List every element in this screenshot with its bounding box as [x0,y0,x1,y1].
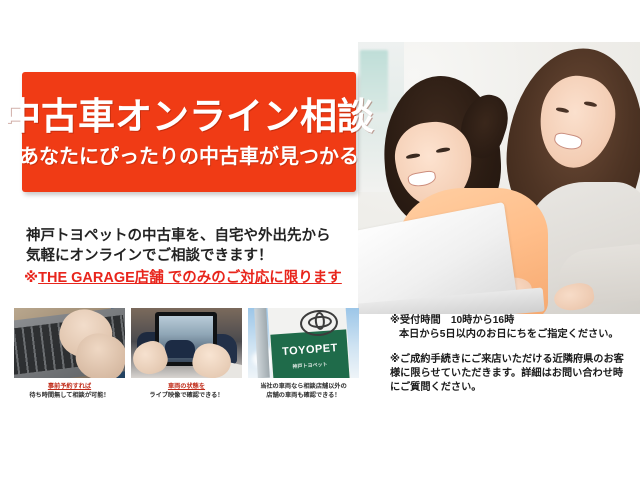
note-eligibility-line-2: 様に限らせていただきます。詳細はお問い合わせ時 [390,367,630,381]
terms-notes: ※受付時間 10時から16時 本日から5日以内のお日にちをご指定ください。 ※ご… [390,314,630,406]
tablet-showing-cars-photo [131,308,242,378]
advertisement-banner: 中古車オンライン相談 あなたにぴったりの中古車が見つかる 神戸トヨペットの中古車… [0,0,640,480]
feature-caption-line2: 待ち時間無して相談が可能！ [29,392,109,399]
feature-thumbnail-row: 事前予約すれば 待ち時間無して相談が可能！ 車両の状態を ライブ映像で確認できる… [14,308,359,400]
banner-title: 中古車オンライン相談 [4,98,374,135]
lead-line-2: 気軽にオンラインでご相談できます！ [26,246,356,266]
feature-caption-line2: 店舗の車両も確認できる！ [266,392,340,399]
note-hours-line-1: ※受付時間 10時から16時 [390,314,630,328]
feature-item: 車両の状態を ライブ映像で確認できる！ [131,308,242,400]
feature-item: TOYOPET 神戸トヨペット 当社の車両なら相談店舗以外の 店舗の車両も確認で… [248,308,359,400]
note-eligibility-line-3: にご質問ください。 [390,381,630,395]
note-block-hours: ※受付時間 10時から16時 本日から5日以内のお日にちをご指定ください。 [390,314,630,342]
feature-caption-line2: ライブ映像で確認できる！ [149,392,223,399]
garage-restriction-note: ※THE GARAGE店舗 でのみのご対応に限ります [24,268,342,288]
banner-subtitle: あなたにぴったりの中古車が見つかる [19,147,359,167]
feature-item: 事前予約すれば 待ち時間無して相談が可能！ [14,308,125,400]
note-underlined-text: THE GARAGE店舗 でのみのご対応に限ります [38,270,342,286]
mother-and-daughter-at-laptop-photo [358,42,640,314]
feature-caption: 車両の状態を ライブ映像で確認できる！ [131,383,242,400]
lead-paragraph: 神戸トヨペットの中古車を、自宅や外出先から 気軽にオンラインでご相談できます！ [26,226,356,266]
note-eligibility-line-1: ※ご成約手続きにご来店いただける近隣府県のお客 [390,353,630,367]
feature-caption: 事前予約すれば 待ち時間無して相談が可能！ [14,383,125,400]
note-hours-line-2: 本日から5日以内のお日にちをご指定ください。 [390,328,630,342]
feature-caption-highlight: 事前予約すれば [48,383,91,390]
note-mark: ※ [24,270,38,286]
feature-caption: 当社の車両なら相談店舗以外の 店舗の車両も確認できる！ [248,383,359,400]
feature-caption-highlight: 車両の状態を [168,383,205,390]
toyopet-dealership-sign-photo: TOYOPET 神戸トヨペット [248,308,359,378]
note-block-eligibility: ※ご成約手続きにご来店いただける近隣府県のお客 様に限らせていただきます。詳細は… [390,353,630,395]
hands-typing-on-laptop-photo [14,308,125,378]
feature-caption-highlight: 当社の車両なら相談店舗以外の [260,383,347,390]
thumb2-screen-car [165,340,195,358]
lead-line-1: 神戸トヨペットの中古車を、自宅や外出先から [26,226,356,246]
headline-banner: 中古車オンライン相談 あなたにぴったりの中古車が見つかる [22,72,356,192]
